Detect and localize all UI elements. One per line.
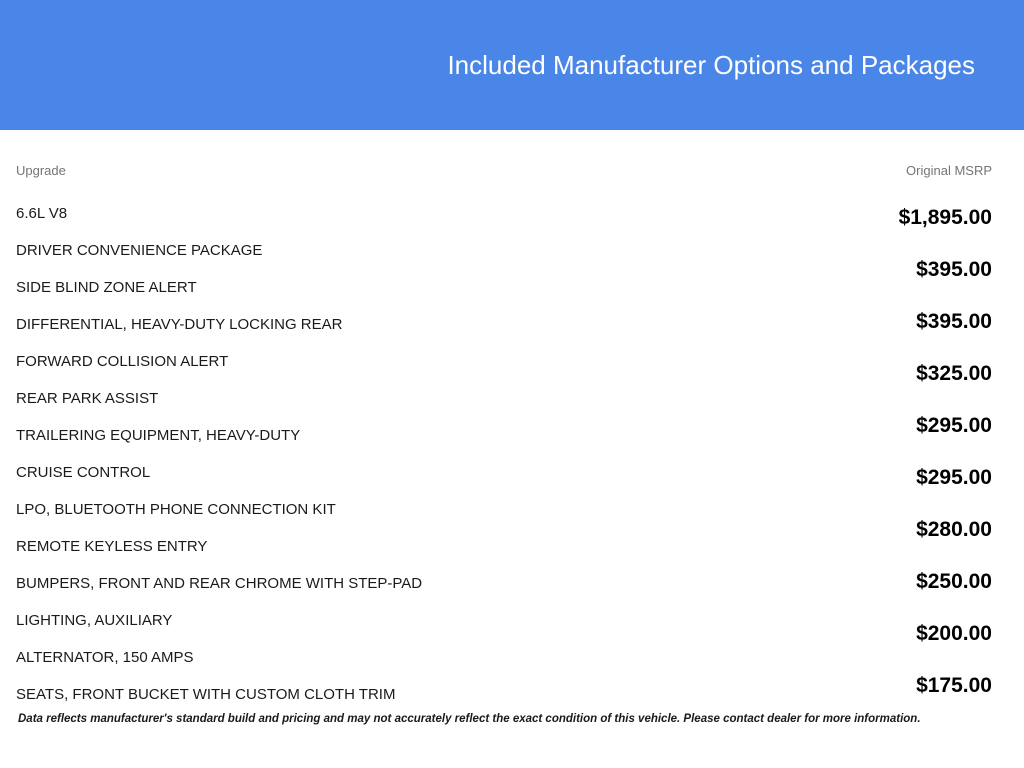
upgrade-label: 6.6L V8 <box>16 195 796 232</box>
page-header-banner: Included Manufacturer Options and Packag… <box>0 0 1024 130</box>
msrp-price: $1,895.00 <box>732 192 992 244</box>
upgrade-label: REMOTE KEYLESS ENTRY <box>16 528 796 565</box>
msrp-price: $395.00 <box>732 296 992 348</box>
upgrade-label: SIDE BLIND ZONE ALERT <box>16 269 796 306</box>
upgrade-label: CRUISE CONTROL <box>16 454 796 491</box>
options-table: Upgrade Original MSRP 6.6L V8DRIVER CONV… <box>0 130 1024 768</box>
upgrade-label: TRAILERING EQUIPMENT, HEAVY-DUTY <box>16 417 796 454</box>
upgrade-label: DIFFERENTIAL, HEAVY-DUTY LOCKING REAR <box>16 306 796 343</box>
upgrade-label: ALTERNATOR, 150 AMPS <box>16 639 796 676</box>
upgrade-label: DRIVER CONVENIENCE PACKAGE <box>16 232 796 269</box>
upgrade-label: SEATS, FRONT BUCKET WITH CUSTOM CLOTH TR… <box>16 676 796 713</box>
page-title: Included Manufacturer Options and Packag… <box>447 50 975 80</box>
column-header-upgrade: Upgrade <box>16 163 66 178</box>
msrp-price-column: $1,895.00$395.00$395.00$325.00$295.00$29… <box>732 192 992 712</box>
upgrade-label: LIGHTING, AUXILIARY <box>16 602 796 639</box>
msrp-price: $325.00 <box>732 348 992 400</box>
msrp-price: $175.00 <box>732 660 992 712</box>
msrp-price: $295.00 <box>732 400 992 452</box>
msrp-price: $250.00 <box>732 556 992 608</box>
msrp-price: $200.00 <box>732 608 992 660</box>
upgrade-label: BUMPERS, FRONT AND REAR CHROME WITH STEP… <box>16 565 796 602</box>
msrp-price: $295.00 <box>732 452 992 504</box>
msrp-price: $395.00 <box>732 244 992 296</box>
upgrade-label: FORWARD COLLISION ALERT <box>16 343 796 380</box>
upgrade-label-column: 6.6L V8DRIVER CONVENIENCE PACKAGESIDE BL… <box>16 195 796 713</box>
column-header-original-msrp: Original MSRP <box>906 163 992 178</box>
msrp-price: $280.00 <box>732 504 992 556</box>
upgrade-label: LPO, BLUETOOTH PHONE CONNECTION KIT <box>16 491 796 528</box>
upgrade-label: REAR PARK ASSIST <box>16 380 796 417</box>
disclaimer-text: Data reflects manufacturer's standard bu… <box>18 712 1008 726</box>
